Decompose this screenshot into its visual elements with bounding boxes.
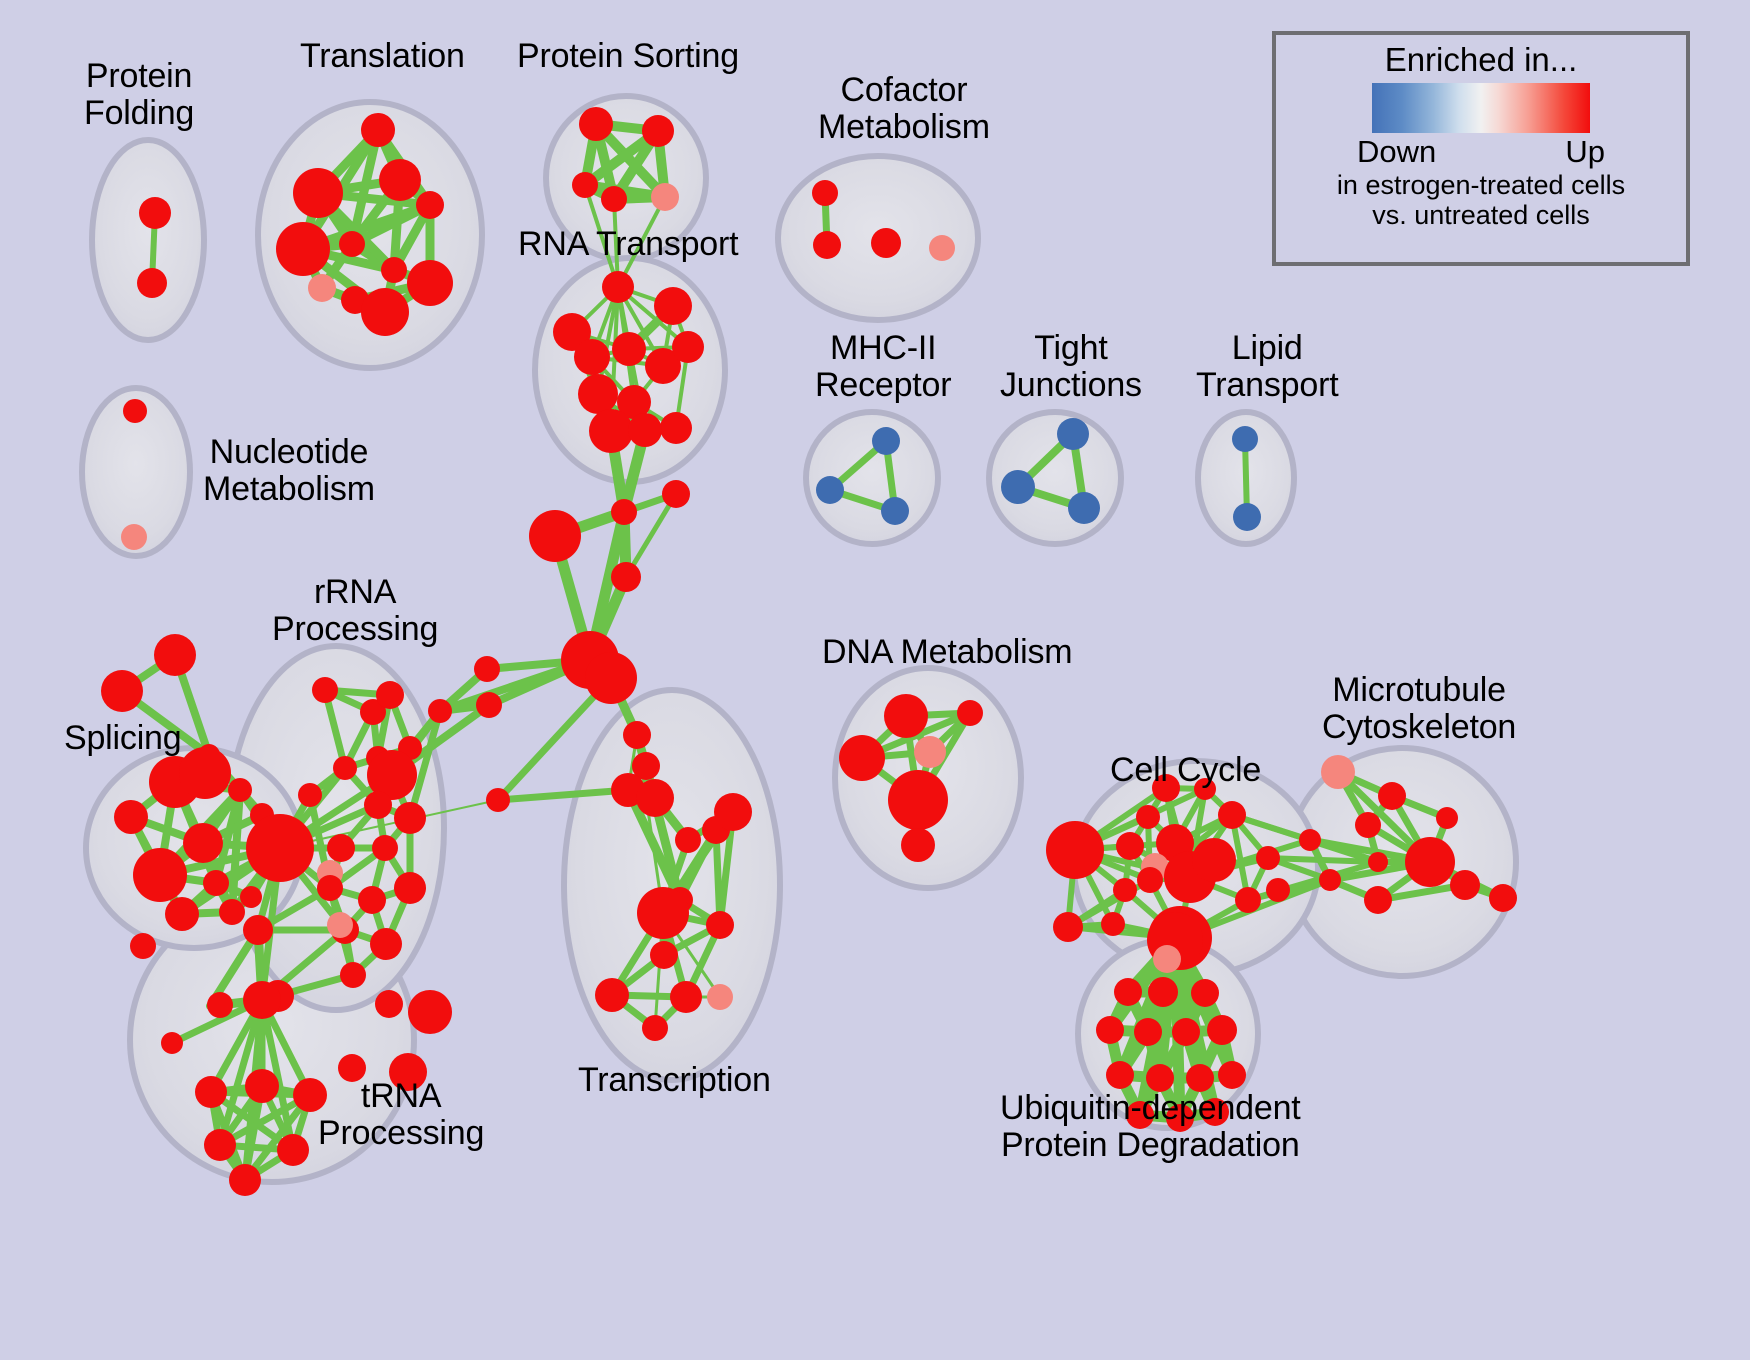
node-up (228, 778, 252, 802)
node-up (1116, 832, 1144, 860)
node-up (1101, 912, 1125, 936)
node-up (595, 978, 629, 1012)
legend-low-label: Down (1357, 134, 1436, 170)
node-up (428, 699, 452, 723)
node-up (243, 915, 273, 945)
legend-high-label: Up (1565, 134, 1605, 170)
node-up (219, 899, 245, 925)
legend-title: Enriched in... (1385, 41, 1578, 79)
node-up (183, 823, 223, 863)
node-up (245, 1069, 279, 1103)
node-up (293, 168, 343, 218)
node-up (1172, 1018, 1200, 1046)
node-up (1364, 886, 1392, 914)
node-up (114, 800, 148, 834)
node-up (888, 770, 948, 830)
node-up (839, 735, 885, 781)
node-up (1126, 1101, 1154, 1129)
node-up (394, 872, 426, 904)
node-up (529, 510, 581, 562)
node-up (714, 793, 752, 831)
node-up (957, 700, 983, 726)
node-up (327, 834, 355, 862)
node-mid (651, 183, 679, 211)
node-up (381, 257, 407, 283)
node-down (1233, 503, 1261, 531)
node-mid (929, 235, 955, 261)
node-up (579, 107, 613, 141)
node-up (1134, 1018, 1162, 1046)
node-up (179, 747, 231, 799)
node-up (204, 1129, 236, 1161)
node-up (312, 677, 338, 703)
node-up (161, 1032, 183, 1054)
node-up (486, 788, 510, 812)
node-up (611, 499, 637, 525)
node-up (612, 332, 646, 366)
node-up (1218, 1061, 1246, 1089)
node-up (642, 1015, 668, 1041)
node-up (243, 981, 281, 1019)
node-up (1378, 782, 1406, 810)
legend-subtitle-line-2: vs. untreated cells (1372, 200, 1590, 230)
node-up (123, 399, 147, 423)
node-up (1191, 979, 1219, 1007)
node-up (901, 828, 935, 862)
node-up (165, 897, 199, 931)
node-up (662, 480, 690, 508)
node-up (1405, 837, 1455, 887)
node-up (642, 115, 674, 147)
hull-protein-folding (92, 140, 204, 340)
node-up (1207, 1015, 1237, 1045)
node-up (372, 835, 398, 861)
node-up (407, 260, 453, 306)
node-up (370, 928, 402, 960)
legend-subtitle-line-1: in estrogen-treated cells (1337, 170, 1625, 200)
node-up (1146, 1064, 1174, 1092)
node-up (154, 634, 196, 676)
node-up (277, 1134, 309, 1166)
node-up (1186, 1064, 1214, 1092)
node-up (376, 681, 404, 709)
node-up (636, 779, 674, 817)
node-up (572, 172, 598, 198)
node-mid (914, 736, 946, 768)
node-up (338, 1054, 366, 1082)
node-up (589, 409, 633, 453)
node-up (298, 783, 322, 807)
node-up (379, 159, 421, 201)
node-up (1106, 1061, 1134, 1089)
node-up (1368, 852, 1388, 872)
node-up (333, 756, 357, 780)
node-up (1192, 838, 1236, 882)
node-up (812, 180, 838, 206)
node-up (139, 197, 171, 229)
node-up (474, 656, 500, 682)
node-up (1218, 801, 1246, 829)
node-up (229, 1164, 261, 1196)
node-up (1201, 1098, 1229, 1126)
node-up (317, 875, 343, 901)
node-up (1256, 846, 1280, 870)
node-up (585, 652, 637, 704)
node-up (1166, 1104, 1194, 1132)
node-up (650, 941, 678, 969)
node-up (1450, 870, 1480, 900)
node-up (1299, 829, 1321, 851)
node-mid (707, 984, 733, 1010)
node-up (1235, 887, 1261, 913)
node-up (416, 191, 444, 219)
node-up (207, 992, 233, 1018)
node-down (1057, 418, 1089, 450)
legend-panel: Enriched in... Down Up in estrogen-treat… (1272, 31, 1690, 266)
node-up (1096, 1016, 1124, 1044)
node-up (611, 562, 641, 592)
node-up (130, 933, 156, 959)
node-up (871, 228, 901, 258)
node-down (881, 497, 909, 525)
enrichment-network-figure: Protein Folding Translation Protein Sort… (0, 0, 1750, 1360)
node-up (364, 791, 392, 819)
node-down (1001, 470, 1035, 504)
node-down (816, 476, 844, 504)
node-mid (1153, 945, 1181, 973)
node-up (293, 1078, 327, 1112)
node-up (358, 886, 386, 914)
node-up (361, 288, 409, 336)
legend-color-gradient-bar (1372, 83, 1590, 133)
node-up (340, 962, 366, 988)
node-mid (1321, 755, 1355, 789)
node-up (884, 694, 928, 738)
node-up (628, 413, 662, 447)
node-up (706, 911, 734, 939)
node-up (1137, 867, 1163, 893)
node-up (1114, 978, 1142, 1006)
node-up (361, 113, 395, 147)
node-up (1489, 884, 1517, 912)
node-up (1436, 807, 1458, 829)
node-up (654, 287, 692, 325)
node-up (203, 870, 229, 896)
node-up (1266, 878, 1290, 902)
node-up (133, 848, 187, 902)
node-up (637, 887, 689, 939)
node-up (101, 670, 143, 712)
node-up (1152, 774, 1180, 802)
node-up (389, 1053, 427, 1091)
node-up (276, 222, 330, 276)
node-up (476, 692, 502, 718)
node-up (602, 271, 634, 303)
node-down (1068, 492, 1100, 524)
node-up (623, 721, 651, 749)
node-down (1232, 426, 1258, 452)
node-up (660, 412, 692, 444)
node-mid (121, 524, 147, 550)
node-up (1113, 878, 1137, 902)
node-up (1148, 977, 1178, 1007)
node-up (394, 802, 426, 834)
node-up (675, 827, 701, 853)
node-up (408, 990, 452, 1034)
node-up (1046, 821, 1104, 879)
node-up (672, 331, 704, 363)
node-up (1355, 812, 1381, 838)
node-up (670, 981, 702, 1013)
node-up (574, 339, 610, 375)
legend-endpoint-labels: Down Up (1357, 134, 1605, 170)
node-up (339, 231, 365, 257)
node-up (1194, 778, 1216, 800)
node-up (1319, 869, 1341, 891)
node-up (375, 990, 403, 1018)
node-up (601, 186, 627, 212)
node-up (813, 231, 841, 259)
node-up (1053, 912, 1083, 942)
node-up (578, 374, 618, 414)
node-up (246, 814, 314, 882)
node-mid (308, 274, 336, 302)
node-mid (327, 912, 353, 938)
node-up (240, 886, 262, 908)
node-up (137, 268, 167, 298)
node-down (872, 427, 900, 455)
node-up (195, 1076, 227, 1108)
node-up (1136, 805, 1160, 829)
